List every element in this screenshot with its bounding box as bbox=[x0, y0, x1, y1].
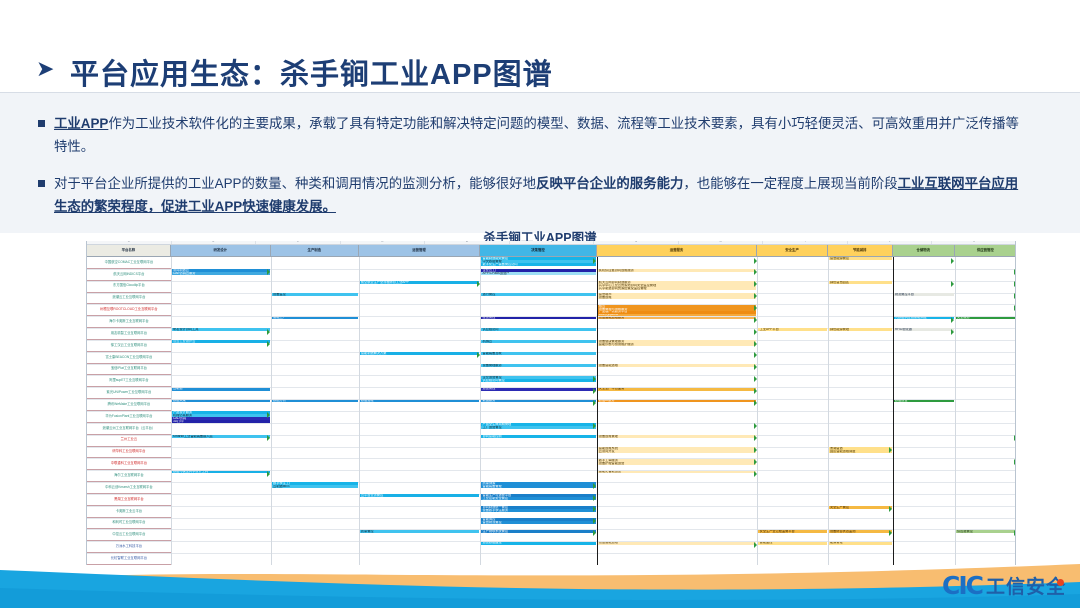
matrix-cell[interactable]: 设备护理智能运营 bbox=[598, 462, 757, 465]
flag-marker-icon bbox=[267, 435, 270, 441]
matrix-cell[interactable]: 机械云 bbox=[481, 340, 595, 343]
matrix-cell[interactable]: RFID物流通 bbox=[894, 328, 954, 331]
flag-marker-icon bbox=[754, 293, 757, 299]
matrix-cell[interactable]: 质量管控 bbox=[360, 530, 480, 533]
flag-marker-icon bbox=[1014, 269, 1016, 275]
flag-marker-icon bbox=[593, 258, 596, 264]
logo-latin-text: CIC bbox=[942, 571, 982, 600]
column-letter-C: C bbox=[256, 241, 341, 244]
flag-marker-icon bbox=[593, 530, 596, 536]
chevron-right-icon: ➤ bbox=[36, 58, 62, 82]
column-letter-B: B bbox=[172, 241, 257, 244]
flag-marker-icon bbox=[754, 542, 757, 548]
platform-name-cell[interactable]: 用友精智工业互联网平台 bbox=[87, 328, 171, 340]
flag-marker-icon bbox=[593, 506, 596, 512]
column-separator bbox=[359, 257, 360, 565]
platform-name-cell[interactable]: 航天云网INDICS平台 bbox=[87, 269, 171, 281]
matrix-column-header-6[interactable]: 安全生产 bbox=[757, 245, 827, 257]
column-letter-A: A bbox=[87, 241, 172, 244]
flag-marker-icon bbox=[477, 281, 480, 287]
matrix-cell[interactable]: 数据AI服务 bbox=[598, 400, 757, 403]
column-separator bbox=[597, 257, 598, 565]
matrix-cell[interactable]: 运行管控 bbox=[481, 293, 595, 296]
flag-marker-icon bbox=[1014, 281, 1016, 287]
flag-marker-icon bbox=[267, 341, 270, 347]
flag-marker-icon bbox=[267, 471, 270, 477]
matrix-cell[interactable]: 园区智能运维调度 bbox=[829, 450, 892, 453]
flag-marker-icon bbox=[754, 435, 757, 441]
matrix-cell[interactable]: 航空航空生产全流程综合工业APP bbox=[360, 281, 480, 284]
column-separator bbox=[828, 257, 829, 565]
matrix-cell[interactable]: 绿色能源管理 bbox=[829, 328, 892, 331]
matrix-cell[interactable]: 运营数据监控 bbox=[481, 542, 595, 545]
platform-name-cell[interactable]: 中科云创Kmarsh工业互联网平台 bbox=[87, 482, 171, 494]
logo-cn-text: 工信安全 bbox=[986, 572, 1066, 599]
square-bullet-icon bbox=[38, 120, 45, 127]
flag-marker-icon bbox=[754, 341, 757, 347]
matrix-column-header-9[interactable]: 供应链管控 bbox=[955, 245, 1016, 257]
flag-marker-icon bbox=[754, 329, 757, 335]
matrix-cell[interactable]: 智能化智能运营 bbox=[598, 471, 757, 474]
row-separator bbox=[87, 458, 1016, 459]
bullet-text-2: 对于平台企业所提供的工业APP的数量、种类和调用情况的监测分析，能够很好地反映平… bbox=[54, 172, 1019, 218]
flag-marker-icon bbox=[1014, 293, 1016, 299]
flag-marker-icon bbox=[1014, 530, 1016, 536]
matrix-cell[interactable]: 设备综合状态监测 bbox=[829, 530, 892, 533]
flag-marker-icon bbox=[754, 376, 757, 382]
matrix-cell[interactable]: 研发设计协同工具 bbox=[172, 328, 270, 331]
matrix-cell[interactable]: 云制造MES bbox=[272, 485, 358, 488]
matrix-cell[interactable]: 云平台业务管控 bbox=[360, 494, 480, 497]
matrix-column-header-0[interactable]: 平台名称 bbox=[87, 245, 171, 257]
matrix-cell[interactable]: 云制造 bbox=[172, 388, 270, 391]
matrix-cell[interactable]: 设备监控 bbox=[272, 293, 358, 296]
flag-marker-icon bbox=[754, 400, 757, 406]
flag-marker-icon bbox=[754, 305, 757, 311]
matrix-cell[interactable]: 数据采集 bbox=[172, 400, 270, 403]
flag-marker-icon bbox=[754, 423, 757, 429]
bullet-segment-2: ，也能够在一定程度上展现当前阶段 bbox=[683, 176, 897, 191]
platform-name-cell[interactable]: 富士康BEACON工业互联网平台 bbox=[87, 352, 171, 364]
bullet-segment-0: 对于平台企业所提供的工业APP的数量、种类和调用情况的监测分析，能够很好地 bbox=[54, 176, 536, 191]
matrix-cell[interactable]: 供应链协同管控 bbox=[481, 379, 595, 382]
matrix-column-header-8[interactable]: 仓储物流 bbox=[893, 245, 955, 257]
matrix-grid: 中国航空COMAC工业互联网平台航天云网INDICS平台东方国信Cloudiip… bbox=[87, 257, 1016, 565]
bullet-segment-1: 作为工业技术软件化的主要成果，承载了具有特定功能和解决特定问题的模型、数据、流程… bbox=[54, 116, 1019, 154]
page-title: 平台应用生态：杀手锏工业APP图谱 bbox=[70, 51, 553, 93]
slide-title-bar: ➤ 平台应用生态：杀手锏工业APP图谱 bbox=[0, 18, 1080, 86]
matrix-cell[interactable]: 大数据供应链智能调度 bbox=[894, 317, 954, 320]
logo-dot-icon bbox=[1057, 579, 1064, 586]
flag-marker-icon bbox=[754, 258, 757, 264]
matrix-cell[interactable]: 设备运维管理 bbox=[598, 435, 757, 438]
flag-marker-icon bbox=[889, 530, 892, 536]
flag-marker-icon bbox=[593, 495, 596, 501]
flag-marker-icon bbox=[267, 329, 270, 335]
bullet-item-1: 工业APP作为工业技术软件化的主要成果，承载了具有特定功能和解决特定问题的模型、… bbox=[38, 112, 1019, 158]
flag-marker-icon bbox=[593, 518, 596, 524]
matrix-cell[interactable]: 设备管理服务 bbox=[481, 364, 595, 367]
flag-marker-icon bbox=[754, 317, 757, 323]
platform-name-cell[interactable]: 和利时工业互联网平台 bbox=[87, 518, 171, 530]
platform-name-cell[interactable]: 浪潮云工业互联网平台 bbox=[87, 293, 171, 305]
matrix-cell[interactable]: 智能装备互联 bbox=[481, 352, 595, 355]
matrix-cell[interactable]: 智能制造解决方案 bbox=[360, 352, 480, 355]
matrix-cell[interactable]: APP/CPaaS运营户 bbox=[481, 272, 595, 275]
matrix-cell[interactable]: 供应链管控 bbox=[956, 530, 1016, 533]
matrix-cell[interactable]: 智慧能源管控 bbox=[829, 257, 892, 260]
column-separator bbox=[271, 257, 272, 565]
platform-name-cell[interactable]: 中国航空COMAC工业互联网平台 bbox=[87, 257, 171, 269]
matrix-cell[interactable]: 供应链协同 bbox=[481, 328, 595, 331]
matrix-cell[interactable]: 数据与模型共享设计工具 bbox=[172, 471, 270, 474]
flag-marker-icon bbox=[593, 400, 596, 406]
matrix-column-header-1[interactable]: 研发设计 bbox=[171, 245, 271, 257]
column-separator bbox=[757, 257, 758, 565]
matrix-cell[interactable]: 运营管控 bbox=[481, 388, 595, 391]
flag-marker-icon bbox=[477, 352, 480, 358]
flag-marker-icon bbox=[889, 506, 892, 512]
matrix-cell[interactable]: 安全生产管控 bbox=[829, 506, 892, 509]
matrix-cell[interactable]: 智能监控 bbox=[758, 542, 826, 545]
matrix-cell[interactable]: 工厂运营管控 bbox=[481, 426, 595, 429]
column-letter-J: J bbox=[848, 241, 933, 244]
flag-marker-icon bbox=[951, 258, 954, 264]
column-letter-H: H bbox=[679, 241, 764, 244]
matrix-column-header-3[interactable]: 运营管理 bbox=[359, 245, 481, 257]
flag-marker-icon bbox=[267, 269, 270, 275]
flag-marker-icon bbox=[754, 471, 757, 477]
matrix-cell[interactable]: 工业控制安全管控 bbox=[481, 497, 595, 500]
matrix-cell[interactable]: 绿色智慧园区 bbox=[829, 281, 892, 284]
column-letter-G: G bbox=[594, 241, 679, 244]
cic-logo: CIC 工信安全 bbox=[942, 570, 1066, 600]
matrix-cell[interactable]: 数字化生产装备管控协同 bbox=[481, 263, 595, 266]
column-separator bbox=[893, 257, 894, 565]
platform-name-cell[interactable]: 兰州工业云 bbox=[87, 435, 171, 447]
matrix-cell[interactable]: 物流管控平台 bbox=[894, 293, 954, 296]
column-letter-F: F bbox=[510, 241, 595, 244]
flag-marker-icon bbox=[951, 329, 954, 335]
matrix-column-header-2[interactable]: 生产制造 bbox=[271, 245, 359, 257]
platform-name-cell[interactable]: 腾讯WeMake工业互联网平台 bbox=[87, 399, 171, 411]
platform-name-cell[interactable]: 海尔工业互联网平台 bbox=[87, 470, 171, 482]
flag-marker-icon bbox=[593, 423, 596, 429]
flag-marker-icon bbox=[593, 376, 596, 382]
flag-marker-icon bbox=[754, 459, 757, 465]
platform-name-cell[interactable]: 卡奥斯工业云平台 bbox=[87, 506, 171, 518]
matrix-cell[interactable]: 安全服务 bbox=[956, 317, 1016, 320]
matrix-cell[interactable]: 安全生产全过程监管平台 bbox=[758, 530, 826, 533]
matrix-cell[interactable]: 智能装备管理 bbox=[481, 485, 595, 488]
matrix-cell[interactable]: CAE仿真云服务 bbox=[172, 272, 270, 275]
matrix-cell[interactable]: 数据治理 bbox=[360, 400, 480, 403]
flag-marker-icon bbox=[754, 352, 757, 358]
flag-marker-icon bbox=[889, 447, 892, 453]
slide-canvas: ➤ 平台应用生态：杀手锏工业APP图谱 工业APP作为工业技术软件化的主要成果，… bbox=[0, 0, 1080, 608]
flag-marker-icon bbox=[754, 364, 757, 370]
matrix-cell[interactable]: 3D打印 bbox=[172, 420, 270, 423]
bullet-segment-0: 工业APP bbox=[54, 116, 108, 131]
platform-name-cell[interactable]: 黑湖工业互联网平台 bbox=[87, 494, 171, 506]
matrix-cell[interactable]: 协同智能控制 bbox=[481, 435, 595, 438]
flag-marker-icon bbox=[754, 269, 757, 275]
footer-waves: CIC 工信安全 bbox=[0, 548, 1080, 608]
flag-marker-icon bbox=[951, 317, 954, 323]
matrix-cell[interactable]: 数据分析 bbox=[272, 400, 358, 403]
matrix-cell[interactable]: 智能工厂 bbox=[272, 317, 358, 320]
matrix-cell[interactable]: 设备智能运维 bbox=[598, 542, 757, 545]
platform-name-cell[interactable]: 东方国信Cloudiip平台 bbox=[87, 281, 171, 293]
column-letter-E: E bbox=[425, 241, 510, 244]
matrix-column-header-5[interactable]: 运营服务 bbox=[597, 245, 758, 257]
matrix-cell[interactable]: 安全生产平台监管 bbox=[598, 388, 757, 391]
flag-marker-icon bbox=[267, 412, 270, 418]
flag-marker-icon bbox=[1014, 305, 1016, 311]
matrix-cell[interactable]: 共享制造协同资源配置及监控管理 bbox=[598, 287, 757, 290]
matrix-cell[interactable]: 云协同开发 bbox=[598, 450, 757, 453]
matrix-column-header-7[interactable]: 节能减排 bbox=[828, 245, 893, 257]
wave-graphic bbox=[0, 548, 1080, 608]
platform-name-cell[interactable]: 研华科工业互联网平台 bbox=[87, 447, 171, 459]
matrix-cell[interactable]: 工业APP平台 bbox=[758, 328, 826, 331]
matrix-cell[interactable]: 智能诊断与预测维护服务 bbox=[598, 343, 757, 346]
platform-name-cell[interactable]: 中控云工业互联网平台 bbox=[87, 529, 171, 541]
platform-name-cell[interactable]: 浪潮云洲工业互联网平台（云平台） bbox=[87, 423, 171, 435]
bullet-segment-1: 反映平台企业的服务能力 bbox=[536, 176, 683, 191]
matrix-cell[interactable]: 设备智能运维 bbox=[598, 364, 757, 367]
matrix-cell[interactable]: 数据服务 bbox=[481, 400, 595, 403]
platform-name-cell[interactable]: 华为FusionPlant工业互联网平台 bbox=[87, 411, 171, 423]
matrix-cell[interactable]: 设备智能运维服务 bbox=[598, 317, 757, 320]
matrix-cell[interactable]: 汉云工业设计云 bbox=[172, 340, 270, 343]
platform-name-cell[interactable]: 紫光UNIPower工业互联网平台 bbox=[87, 387, 171, 399]
matrix-cell[interactable]: 数据运营 bbox=[894, 400, 954, 403]
row-separator bbox=[87, 304, 1016, 305]
platform-name-cell[interactable]: 宝信iPlat工业互联网平台 bbox=[87, 364, 171, 376]
platform-name-cell[interactable]: 阿里supET工业互联网平台 bbox=[87, 375, 171, 387]
flag-marker-icon bbox=[1014, 435, 1016, 441]
platform-name-cell[interactable]: 树根互联ROOTCLOUD工业互联网平台 bbox=[87, 304, 171, 316]
column-letter-K: K bbox=[932, 241, 1016, 244]
column-separator bbox=[955, 257, 956, 565]
square-bullet-icon bbox=[38, 180, 45, 187]
matrix-header-row: 平台名称研发设计生产制造运营管理决策管控运营服务安全生产节能减排仓储物流供应链管… bbox=[87, 245, 1016, 257]
column-letter-D: D bbox=[341, 241, 426, 244]
platform-name-cell[interactable]: 海尔卡奥斯工业互联网平台 bbox=[87, 316, 171, 328]
flag-marker-icon bbox=[1014, 459, 1016, 465]
matrix-cell[interactable]: Kmarsh工业智能装备接入层 bbox=[172, 435, 270, 438]
flag-marker-icon bbox=[951, 281, 954, 287]
matrix-cell[interactable]: 智慧物流管控 bbox=[481, 521, 595, 524]
platform-name-cell[interactable]: 徐工汉云工业互联网平台 bbox=[87, 340, 171, 352]
industrial-app-matrix[interactable]: ABCDEFGHIJK 平台名称研发设计生产制造运营管理决策管控运营服务安全生产… bbox=[86, 241, 1016, 565]
flag-marker-icon bbox=[593, 388, 596, 394]
matrix-cell[interactable]: 经营管控 bbox=[481, 317, 595, 320]
matrix-cell[interactable]: 设备数字孪生服务 bbox=[481, 509, 595, 512]
platform-name-cell[interactable]: 中联重科工业互联网平台 bbox=[87, 458, 171, 470]
flag-marker-icon bbox=[593, 483, 596, 489]
bullet-text-1: 工业APP作为工业技术软件化的主要成果，承载了具有特定功能和解决特定问题的模型、… bbox=[54, 112, 1019, 158]
flag-marker-icon bbox=[754, 388, 757, 394]
column-letter-I: I bbox=[763, 241, 848, 244]
matrix-cell[interactable]: 设备运维 bbox=[598, 296, 757, 299]
matrix-cell[interactable]: 生产物联系统管控 bbox=[481, 530, 595, 533]
bullet-item-2: 对于平台企业所提供的工业APP的数量、种类和调用情况的监测分析，能够很好地反映平… bbox=[38, 172, 1019, 218]
matrix-column-header-4[interactable]: 决策管控 bbox=[480, 245, 596, 257]
matrix-cell[interactable]: 能源管理 bbox=[829, 542, 892, 545]
flag-marker-icon bbox=[754, 447, 757, 453]
flag-marker-icon bbox=[754, 281, 757, 287]
matrix-cell[interactable]: 民机供应链协同运维服务 bbox=[598, 269, 757, 272]
